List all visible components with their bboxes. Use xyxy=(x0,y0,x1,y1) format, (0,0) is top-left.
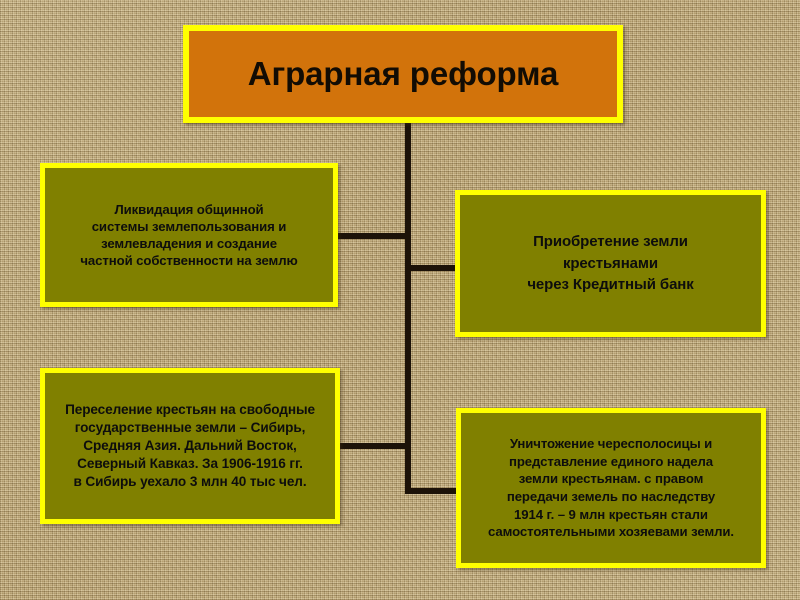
diagram-node-land-consolidation: Уничтожение чересполосицы и представлени… xyxy=(456,408,766,568)
connector-branch-left-upper xyxy=(336,233,408,239)
diagram-title-text: Аграрная реформа xyxy=(189,56,617,92)
diagram-node-label: Приобретение земли крестьянами через Кре… xyxy=(460,231,761,296)
diagram-node-resettlement: Переселение крестьян на свободные госуда… xyxy=(40,368,340,524)
connector-branch-right-lower xyxy=(408,488,458,494)
diagram-node-label: Ликвидация общинной системы землепользов… xyxy=(45,201,333,270)
connector-spine-vertical xyxy=(405,122,411,494)
connector-branch-right-upper xyxy=(408,265,458,271)
diagram-node-land-ownership: Ликвидация общинной системы землепользов… xyxy=(40,163,338,307)
diagram-node-credit-bank: Приобретение земли крестьянами через Кре… xyxy=(455,190,766,337)
diagram-node-label: Переселение крестьян на свободные госуда… xyxy=(45,401,335,491)
connector-branch-left-lower xyxy=(338,443,408,449)
slide-canvas: Аграрная реформа Ликвидация общинной сис… xyxy=(0,0,800,600)
diagram-node-label: Уничтожение чересполосицы и представлени… xyxy=(461,435,761,540)
diagram-title-box: Аграрная реформа xyxy=(183,25,623,123)
